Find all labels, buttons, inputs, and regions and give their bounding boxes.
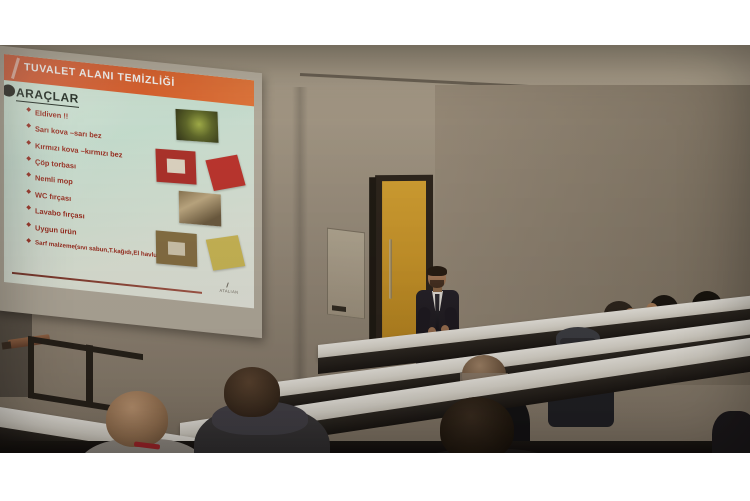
slide-surface: TUVALET ALANI TEMİZLİĞİ ARAÇLAR Eldiven … xyxy=(4,54,254,308)
slide-subtitle: ARAÇLAR xyxy=(16,85,79,108)
slide-footer-logo: ATALIAN xyxy=(214,281,244,295)
projection-screen: TUVALET ALANI TEMİZLİĞİ ARAÇLAR Eldiven … xyxy=(0,45,262,338)
slide-image-tan-framed xyxy=(156,230,198,267)
door-handle-icon xyxy=(389,239,392,299)
slide-image-mop xyxy=(179,191,222,227)
seminar-photograph: TUVALET ALANI TEMİZLİĞİ ARAÇLAR Eldiven … xyxy=(0,45,750,453)
slide-image-yellow-cloth xyxy=(206,235,246,270)
screenshot-root: TUVALET ALANI TEMİZLİĞİ ARAÇLAR Eldiven … xyxy=(0,0,750,501)
slide-image-red-framed xyxy=(155,149,196,185)
head xyxy=(224,367,280,417)
slide-bullet-list: Eldiven !! Sarı kova –sarı bez Kırmızı k… xyxy=(26,108,176,270)
presenter-hair xyxy=(427,266,447,276)
slide-bullet-marker xyxy=(4,84,15,97)
slide-footer-rule xyxy=(12,272,202,294)
head xyxy=(106,391,168,447)
wall-corner-shadow xyxy=(292,87,308,387)
door-gap xyxy=(369,177,376,359)
wall-holder-clip xyxy=(2,341,12,349)
slide-image-red-cloth xyxy=(205,155,245,191)
head xyxy=(440,397,514,453)
logo-text: ATALIAN xyxy=(220,288,239,295)
title-bar-accent xyxy=(11,57,20,79)
slide-image-green-glove xyxy=(175,109,218,143)
presenter-beard xyxy=(430,280,444,288)
logo-mark-icon xyxy=(226,283,233,288)
wall-panel xyxy=(327,228,365,320)
torso xyxy=(712,411,750,453)
left-desk-rail-bar xyxy=(86,344,93,407)
